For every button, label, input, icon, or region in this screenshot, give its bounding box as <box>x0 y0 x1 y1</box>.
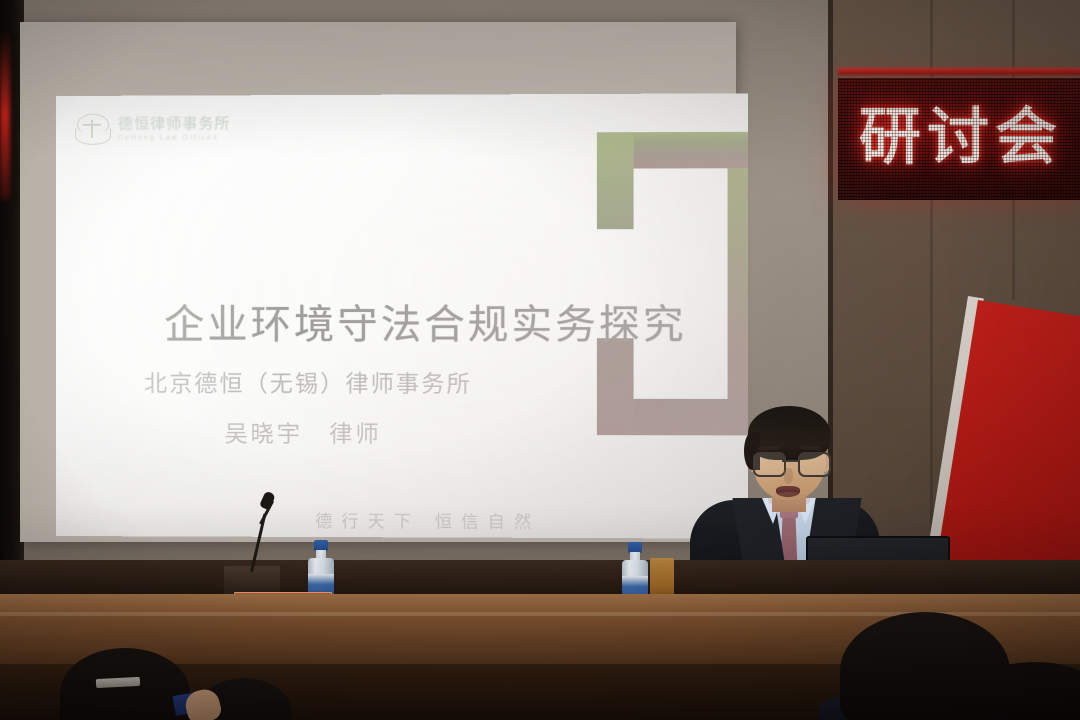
projection-screen-frame: 德恒律师事务所 DeHeng Law Offices 企业环境守法合规实务探究 … <box>20 22 736 542</box>
slide-footer-slogan: 德行天下 恒信自然 <box>315 507 540 533</box>
slide-subtitle-speaker: 吴晓宇 律师 <box>224 414 527 449</box>
tea-glass <box>650 558 674 598</box>
slide-logo: 德恒律师事务所 DeHeng Law Offices <box>74 111 230 146</box>
projection-screen: 德恒律师事务所 DeHeng Law Offices 企业环境守法合规实务探究 … <box>56 93 748 538</box>
left-led-glow <box>0 30 10 200</box>
slide-subtitle-org: 北京德恒（无锡）律师事务所 <box>144 364 589 399</box>
speaker-chin <box>768 492 810 508</box>
tree-emblem-icon <box>74 112 110 146</box>
logo-en-name: DeHeng Law Offices <box>118 134 230 141</box>
speaker-nose <box>784 468 793 484</box>
led-banner-text: 研讨会 <box>848 100 1074 174</box>
bracket-graphic <box>570 132 748 436</box>
table-back-shadow <box>0 560 1080 594</box>
logo-cn-name: 德恒律师事务所 <box>118 116 230 131</box>
led-banner: 研讨会 <box>838 78 1080 200</box>
slide-title: 企业环境守法合规实务探究 <box>164 292 691 351</box>
seminar-photo: 德恒律师事务所 DeHeng Law Offices 企业环境守法合规实务探究 … <box>0 0 1080 720</box>
led-top-strip <box>838 68 1080 75</box>
